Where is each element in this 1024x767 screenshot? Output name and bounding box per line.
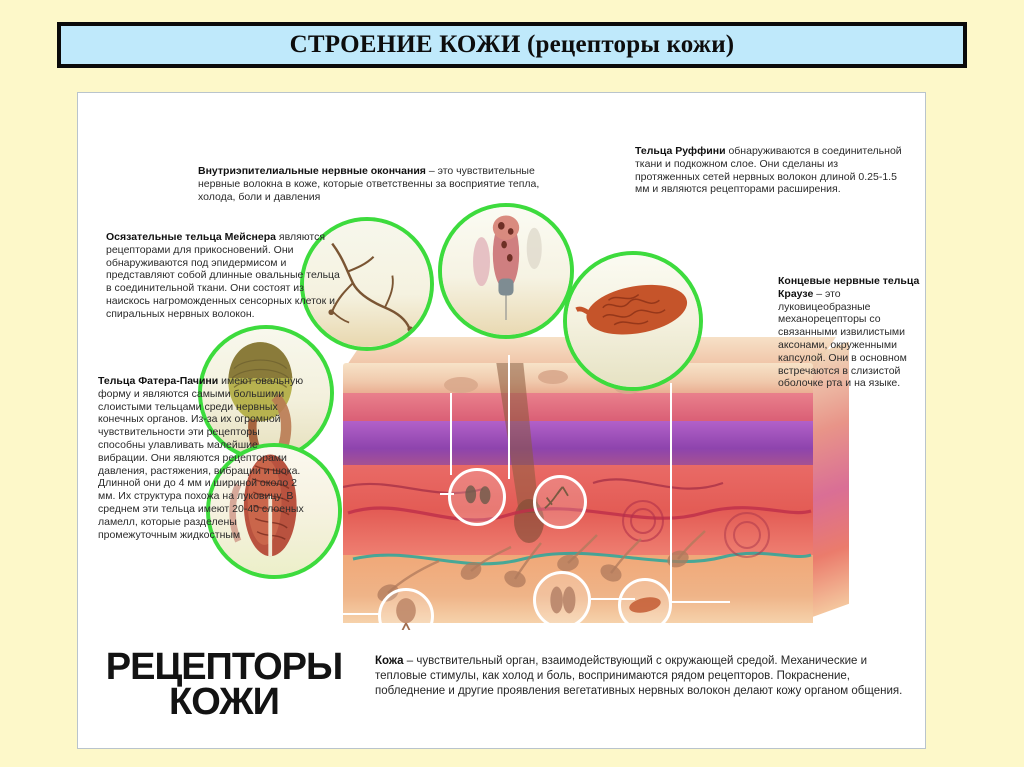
- krause-inset: [533, 571, 591, 629]
- skin-anatomy-illustration: Внутриэпителиальные нервные окончания – …: [78, 93, 925, 748]
- papillary-dermis-layer: [343, 393, 813, 423]
- annotation-krause-term: Концевые нервные тельца Краузе: [778, 275, 919, 300]
- slide-title-box: СТРОЕНИЕ КОЖИ (рецепторы кожи): [57, 22, 967, 68]
- annotation-intraepithelial-term: Внутриэпителиальные нервные окончания: [198, 165, 426, 177]
- annotation-ruffini-term: Тельца Руффини: [635, 145, 726, 157]
- meissner-inset-drawing: [451, 471, 503, 523]
- leader-line-5: [670, 601, 730, 603]
- annotation-pacini: Тельца Фатера-Пачини имеют овальную форм…: [98, 375, 308, 541]
- page-title: СТРОЕНИЕ КОЖИ (рецепторы кожи): [290, 31, 735, 59]
- leader-line-7: [334, 613, 380, 615]
- slide-content-panel: Внутриэпителиальные нервные окончания – …: [77, 92, 926, 749]
- skin-definition-caption: Кожа – чувствительный орган, взаимодейст…: [375, 654, 920, 699]
- annotation-ruffini: Тельца Руффини обнаруживаются в соединит…: [635, 145, 903, 196]
- annotation-meissner-term: Осязательные тельца Мейснера: [106, 231, 276, 243]
- bottom-caption-band: РЕЦЕПТОРЫ КОЖИ Кожа – чувствительный орг…: [78, 630, 925, 748]
- free-ending-inset: [533, 475, 587, 529]
- reticular-dermis-layer: [343, 421, 813, 467]
- receptors-heading-line2: КОЖИ: [84, 685, 364, 720]
- meissner-inset: [448, 468, 506, 526]
- leader-line-3: [508, 355, 510, 479]
- annotation-krause: Концевые нервные тельца Краузе – это лук…: [778, 275, 920, 390]
- annotation-meissner-body: являются рецепторами для прикосновений. …: [106, 231, 340, 320]
- intraepithelial-endings-callout: [438, 203, 574, 339]
- leader-line-1: [440, 493, 454, 495]
- leader-line-2: [450, 393, 452, 475]
- annotation-pacini-term: Тельца Фатера-Пачини: [98, 375, 218, 387]
- free-ending-inset-drawing: [536, 478, 584, 526]
- ruffini-corpuscle-callout: [563, 251, 703, 391]
- intraepithelial-endings-drawing: [442, 207, 570, 335]
- annotation-meissner: Осязательные тельца Мейснера являются ре…: [106, 231, 346, 321]
- leader-line-6: [591, 598, 635, 600]
- leader-line-4: [670, 383, 672, 601]
- krause-inset-drawing: [536, 574, 588, 626]
- ruffini-inset: [618, 578, 672, 632]
- receptors-heading: РЕЦЕПТОРЫ КОЖИ: [84, 650, 364, 720]
- annotation-intraepithelial: Внутриэпителиальные нервные окончания – …: [198, 165, 548, 203]
- annotation-pacini-body: имеют овальную форму и являются самыми б…: [98, 375, 304, 541]
- skin-definition-body: – чувствительный орган, взаимодействующи…: [375, 655, 902, 697]
- ruffini-inset-drawing: [621, 581, 669, 629]
- ruffini-corpuscle-drawing: [567, 255, 699, 387]
- skin-definition-term: Кожа: [375, 655, 404, 667]
- annotation-krause-body: – это луковицеобразные механорецепторы с…: [778, 288, 907, 390]
